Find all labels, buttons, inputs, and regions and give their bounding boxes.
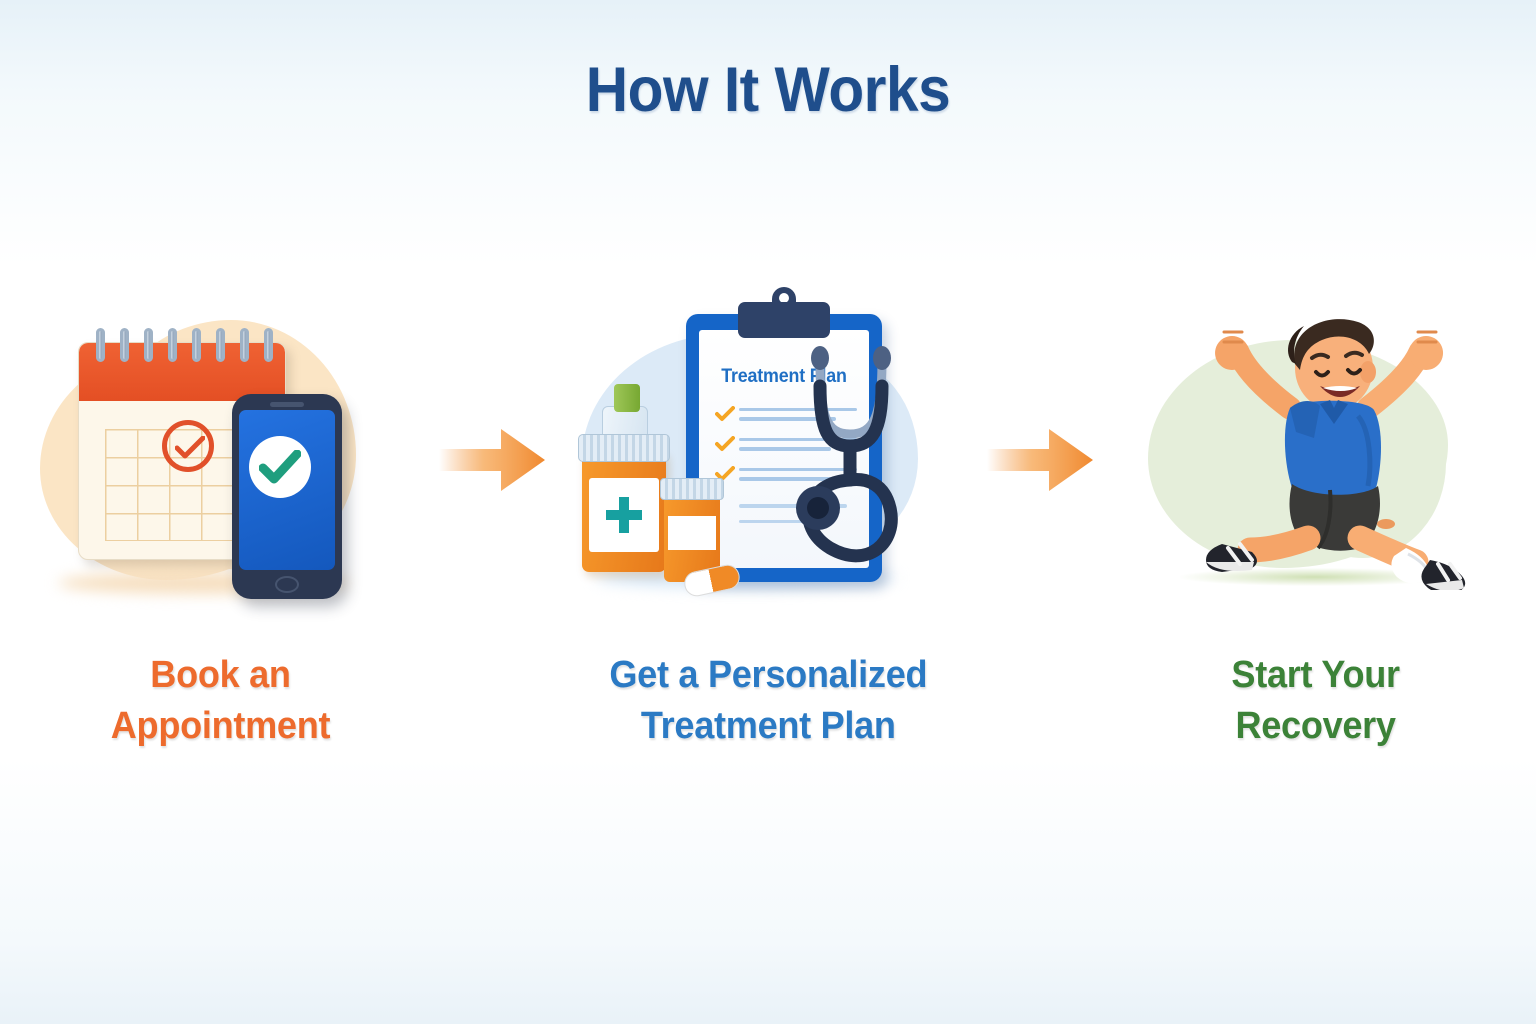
spiral-binding-icon [240,328,249,362]
bottle-label [668,516,716,550]
checkmark-icon [715,436,739,458]
check-badge-icon [249,436,311,498]
step-3-illustration [1106,300,1526,620]
step-2-treatment-plan: Treatment Plan [558,300,978,753]
spiral-binding-icon [216,328,225,362]
spiral-binding-icon [144,328,153,362]
step-1-illustration [10,300,430,620]
bottle-cap-ribbed [578,434,670,462]
stethoscope-icon [794,330,926,582]
step-1-book-appointment: Book an Appointment [10,300,430,753]
step-2-label: Get a Personalized Treatment Plan [609,650,927,753]
steps-row: Book an Appointment [0,300,1536,780]
circled-check-icon [162,420,214,472]
pill-bottle-icon [582,450,666,572]
page-title: How It Works [54,54,1482,126]
calendar-header [79,343,285,401]
checkmark-icon [715,406,739,428]
spiral-binding-icon [96,328,105,362]
step-2-illustration: Treatment Plan [558,300,978,620]
step-1-label: Book an Appointment [110,650,329,753]
spiral-binding-icon [120,328,129,362]
spiral-binding-icon [168,328,177,362]
phone-home-button [275,576,299,593]
step-3-label: Start Your Recovery [1232,650,1400,753]
spiral-binding-icon [264,328,273,362]
arrow-step2-to-step3 [978,300,1106,620]
step-3-start-recovery: Start Your Recovery [1106,300,1526,753]
bottle-cap-green [614,384,640,412]
smartphone-icon [232,394,342,599]
phone-speaker [270,402,304,407]
bottle-cap-ribbed-small [660,478,724,500]
medical-cross-icon [589,478,659,552]
spiral-binding-icon [192,328,201,362]
running-person-icon [1162,312,1478,590]
arrow-step1-to-step2 [430,300,558,620]
